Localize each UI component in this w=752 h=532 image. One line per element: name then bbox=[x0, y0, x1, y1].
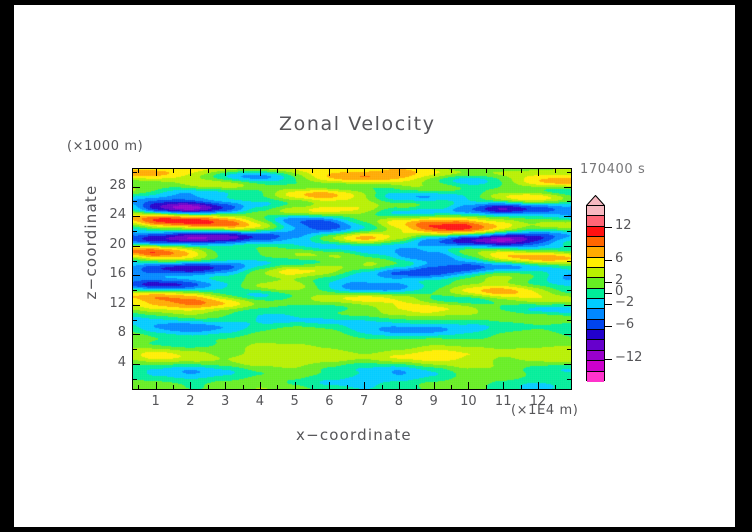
axis-tick bbox=[133, 305, 140, 306]
axis-tick bbox=[451, 385, 452, 389]
colorbar-band bbox=[587, 361, 604, 371]
axis-tick bbox=[173, 169, 174, 173]
colorbar-label: −6 bbox=[615, 317, 634, 332]
axis-tick bbox=[133, 275, 140, 276]
axis-tick bbox=[555, 385, 556, 389]
axis-tick bbox=[208, 169, 209, 173]
colorbar-band bbox=[587, 227, 604, 237]
colorbar-band bbox=[587, 278, 604, 288]
axis-tick bbox=[225, 382, 226, 389]
colorbar-bands bbox=[586, 205, 605, 381]
axis-tick bbox=[133, 231, 137, 232]
y-tick-label: 8 bbox=[86, 325, 126, 340]
x-axis-title: x−coordinate bbox=[296, 426, 412, 444]
figure-root: Zonal Velocity (×1000 m) (×1E4 m) x−coor… bbox=[0, 0, 752, 532]
colorbar-tick bbox=[605, 282, 612, 283]
axis-tick bbox=[133, 290, 137, 291]
axis-tick bbox=[133, 187, 140, 188]
axis-tick bbox=[260, 169, 261, 176]
colorbar-label: 6 bbox=[615, 251, 623, 266]
colorbar-tick bbox=[605, 304, 612, 305]
axis-tick bbox=[277, 169, 278, 173]
figure-paper: Zonal Velocity (×1000 m) (×1E4 m) x−coor… bbox=[14, 5, 735, 527]
axis-tick bbox=[208, 385, 209, 389]
timestamp-label: 170400 s bbox=[580, 162, 645, 177]
colorbar-band bbox=[587, 351, 604, 361]
axis-tick bbox=[564, 305, 571, 306]
colorbar-label: −12 bbox=[615, 350, 642, 365]
axis-tick bbox=[567, 379, 571, 380]
axis-tick bbox=[564, 334, 571, 335]
axis-tick bbox=[434, 169, 435, 176]
colorbar-band bbox=[587, 268, 604, 278]
axis-tick bbox=[382, 169, 383, 173]
colorbar-band bbox=[587, 320, 604, 330]
axis-tick bbox=[567, 201, 571, 202]
axis-tick bbox=[567, 290, 571, 291]
colorbar-label: 12 bbox=[615, 218, 632, 233]
axis-tick bbox=[567, 320, 571, 321]
axis-tick bbox=[468, 169, 469, 176]
axis-tick bbox=[190, 169, 191, 176]
contour-canvas bbox=[133, 169, 571, 389]
colorbar[interactable]: 12620−2−6−12 bbox=[586, 195, 666, 385]
axis-tick bbox=[347, 169, 348, 173]
axis-tick bbox=[329, 169, 330, 176]
colorbar-band bbox=[587, 237, 604, 247]
axis-tick bbox=[538, 169, 539, 176]
colorbar-band bbox=[587, 206, 604, 216]
axis-tick bbox=[399, 169, 400, 176]
y-tick-label: 24 bbox=[86, 207, 126, 222]
axis-tick bbox=[133, 172, 137, 173]
axis-tick bbox=[138, 169, 139, 173]
axis-tick bbox=[521, 169, 522, 173]
axis-tick bbox=[133, 246, 140, 247]
axis-tick bbox=[567, 261, 571, 262]
axis-tick bbox=[133, 379, 137, 380]
y-tick-label: 16 bbox=[86, 266, 126, 281]
axis-tick bbox=[564, 275, 571, 276]
colorbar-band bbox=[587, 340, 604, 350]
axis-tick bbox=[503, 169, 504, 176]
axis-tick bbox=[133, 216, 140, 217]
axis-tick bbox=[564, 364, 571, 365]
axis-tick bbox=[243, 385, 244, 389]
axis-tick bbox=[416, 169, 417, 173]
contour-plot-area[interactable] bbox=[132, 168, 572, 390]
axis-tick bbox=[567, 349, 571, 350]
colorbar-band bbox=[587, 289, 604, 299]
axis-tick bbox=[312, 385, 313, 389]
axis-tick bbox=[486, 169, 487, 173]
axis-tick bbox=[468, 382, 469, 389]
axis-tick bbox=[295, 382, 296, 389]
axis-tick bbox=[312, 169, 313, 173]
axis-tick bbox=[451, 169, 452, 173]
axis-tick bbox=[567, 172, 571, 173]
axis-tick bbox=[567, 231, 571, 232]
colorbar-band bbox=[587, 299, 604, 309]
axis-tick bbox=[329, 382, 330, 389]
y-tick-label: 4 bbox=[86, 355, 126, 370]
axis-tick bbox=[133, 349, 137, 350]
colorbar-band bbox=[587, 247, 604, 257]
axis-tick bbox=[190, 382, 191, 389]
colorbar-tick bbox=[605, 227, 612, 228]
colorbar-band bbox=[587, 330, 604, 340]
axis-tick bbox=[225, 169, 226, 176]
colorbar-tick bbox=[605, 293, 612, 294]
y-tick-label: 20 bbox=[86, 237, 126, 252]
x-tick-label: 12 bbox=[518, 394, 558, 409]
axis-tick bbox=[434, 382, 435, 389]
axis-tick bbox=[564, 187, 571, 188]
axis-tick bbox=[399, 382, 400, 389]
axis-tick bbox=[277, 385, 278, 389]
colorbar-tick bbox=[605, 326, 612, 327]
axis-tick bbox=[486, 385, 487, 389]
y-axis-unit-label: (×1000 m) bbox=[67, 139, 143, 154]
axis-tick bbox=[295, 169, 296, 176]
colorbar-label: −2 bbox=[615, 295, 634, 310]
axis-tick bbox=[382, 385, 383, 389]
axis-tick bbox=[243, 169, 244, 173]
axis-tick bbox=[364, 382, 365, 389]
page-title: Zonal Velocity bbox=[279, 113, 436, 135]
axis-tick bbox=[133, 364, 140, 365]
axis-tick bbox=[133, 201, 137, 202]
colorbar-tick bbox=[605, 260, 612, 261]
axis-tick bbox=[564, 216, 571, 217]
axis-tick bbox=[416, 385, 417, 389]
axis-tick bbox=[364, 169, 365, 176]
axis-tick bbox=[138, 385, 139, 389]
axis-tick bbox=[173, 385, 174, 389]
y-tick-label: 28 bbox=[86, 178, 126, 193]
axis-tick bbox=[133, 320, 137, 321]
axis-tick bbox=[564, 246, 571, 247]
colorbar-band bbox=[587, 258, 604, 268]
axis-tick bbox=[156, 169, 157, 176]
colorbar-band bbox=[587, 309, 604, 319]
axis-tick bbox=[503, 382, 504, 389]
axis-tick bbox=[521, 385, 522, 389]
colorbar-band bbox=[587, 216, 604, 226]
axis-tick bbox=[260, 382, 261, 389]
axis-tick bbox=[538, 382, 539, 389]
axis-tick bbox=[555, 169, 556, 173]
colorbar-band bbox=[587, 372, 604, 382]
colorbar-tick bbox=[605, 359, 612, 360]
axis-tick bbox=[156, 382, 157, 389]
axis-tick bbox=[347, 385, 348, 389]
y-tick-label: 12 bbox=[86, 296, 126, 311]
axis-tick bbox=[133, 334, 140, 335]
axis-tick bbox=[133, 261, 137, 262]
